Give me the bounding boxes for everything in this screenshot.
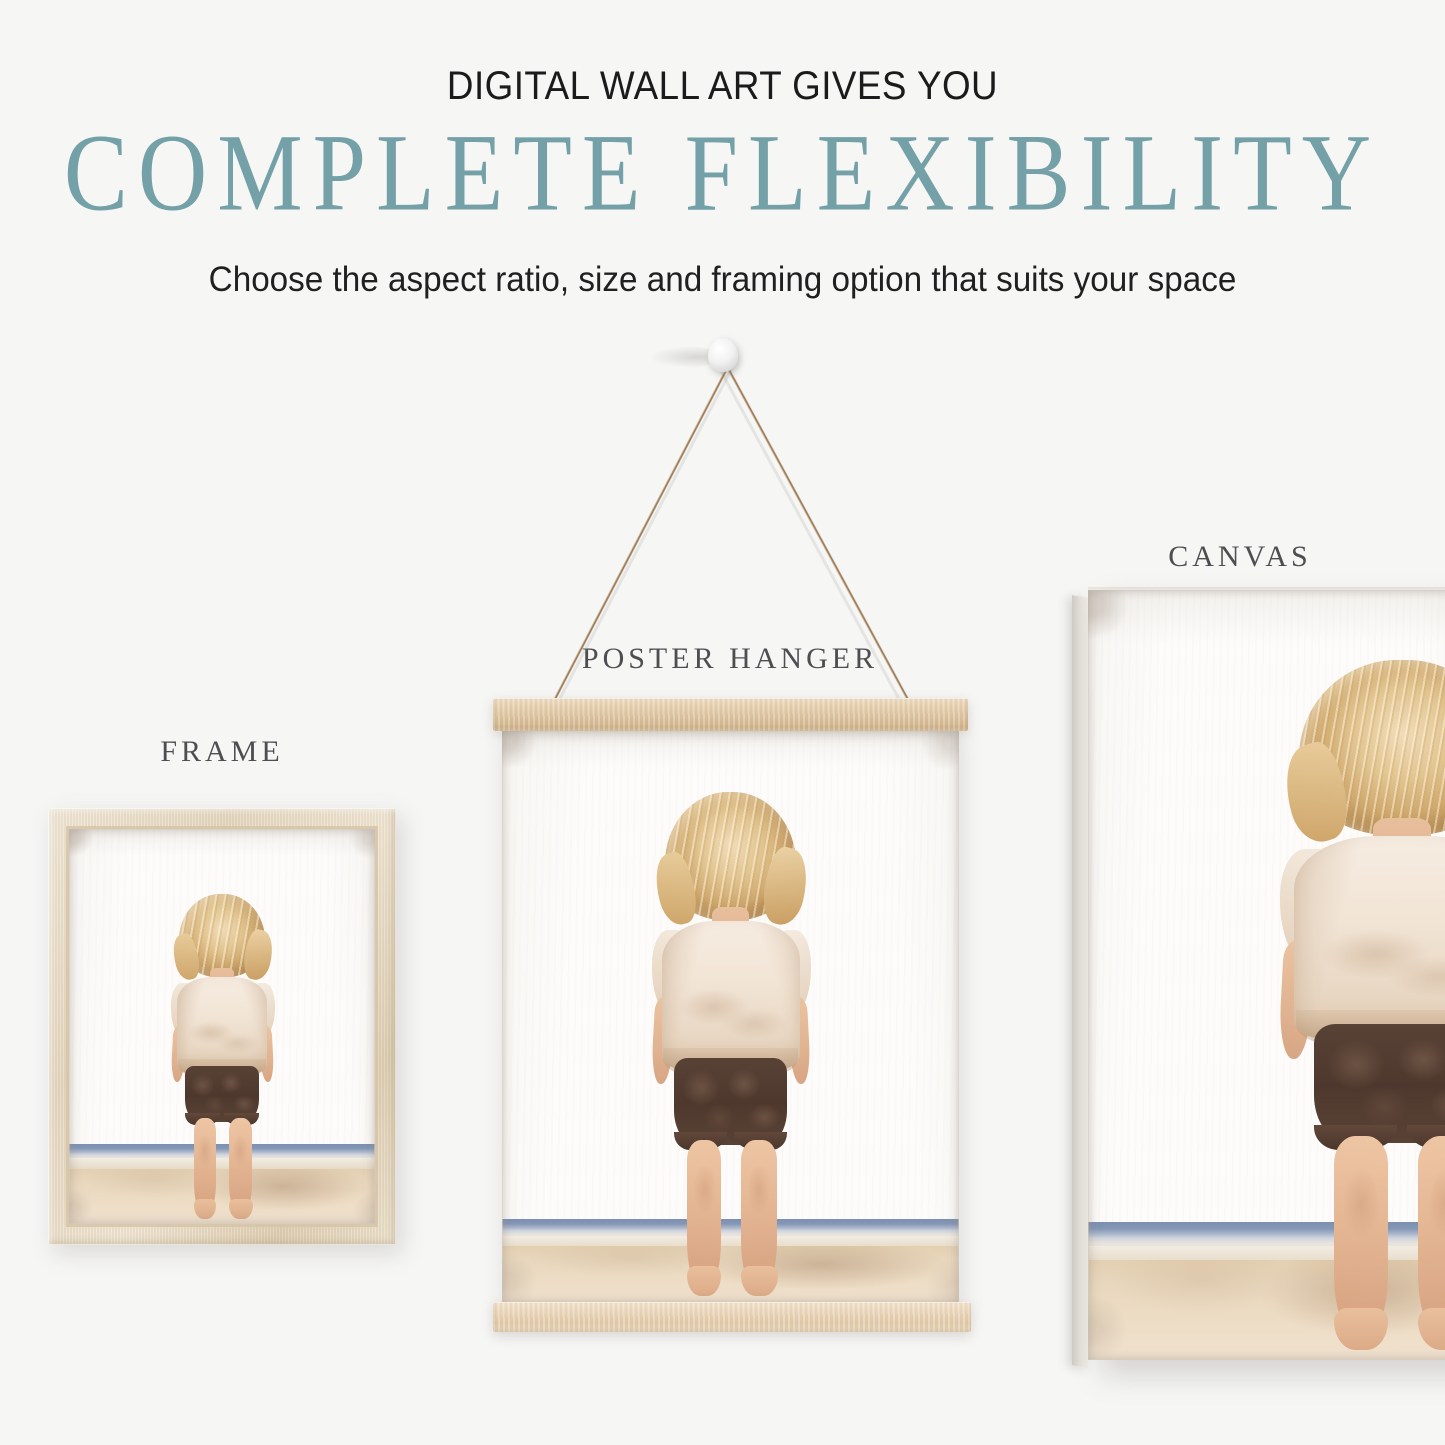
child-foot-left	[194, 1199, 217, 1219]
child-foot-right	[229, 1199, 253, 1219]
header-kicker: DIGITAL WALL ART GIVES YOU	[58, 64, 1387, 109]
child-foot-right	[1418, 1308, 1445, 1350]
child-tshirt-folds	[183, 1013, 261, 1063]
child-tshirt-folds	[671, 976, 791, 1053]
child-calf-left	[1335, 1164, 1378, 1262]
frame-mat	[69, 829, 375, 1224]
hanger-wood-bar-top[interactable]	[493, 698, 968, 731]
child-foot-left	[1334, 1308, 1388, 1350]
child-foot-left	[687, 1266, 722, 1297]
frame-body[interactable]	[48, 808, 396, 1245]
header: DIGITAL WALL ART GIVES YOU COMPLETE FLEX…	[0, 0, 1445, 300]
product-label-canvas: CANVAS	[1070, 540, 1410, 574]
hanger-wood-bar-bottom[interactable]	[493, 1302, 971, 1332]
canvas-body[interactable]	[1088, 590, 1445, 1360]
artwork-poster	[502, 728, 959, 1304]
art-child-figure	[1222, 660, 1445, 1360]
wall-nail-icon[interactable]	[708, 338, 738, 372]
product-poster-hanger[interactable]: POSTER HANGER	[440, 330, 1020, 1365]
art-child-figure	[616, 792, 846, 1304]
canvas-gallery-wrap-edge	[1072, 595, 1088, 1368]
child-foot-right	[741, 1266, 778, 1297]
product-frame[interactable]: FRAME	[48, 735, 396, 1245]
product-label-frame: FRAME	[48, 735, 396, 769]
product-canvas[interactable]: CANVAS	[1070, 540, 1445, 1360]
child-calf-right	[748, 1161, 776, 1233]
artwork-canvas	[1088, 590, 1445, 1360]
child-tshirt-folds	[1308, 912, 1445, 1017]
header-subtitle: Choose the aspect ratio, size and framin…	[36, 260, 1409, 300]
art-child-figure	[147, 894, 297, 1224]
page-title: COMPLETE FLEXIBILITY	[0, 115, 1445, 231]
artwork-frame	[69, 829, 375, 1224]
child-calf-left	[688, 1161, 716, 1233]
product-label-poster-hanger: POSTER HANGER	[440, 642, 1020, 676]
